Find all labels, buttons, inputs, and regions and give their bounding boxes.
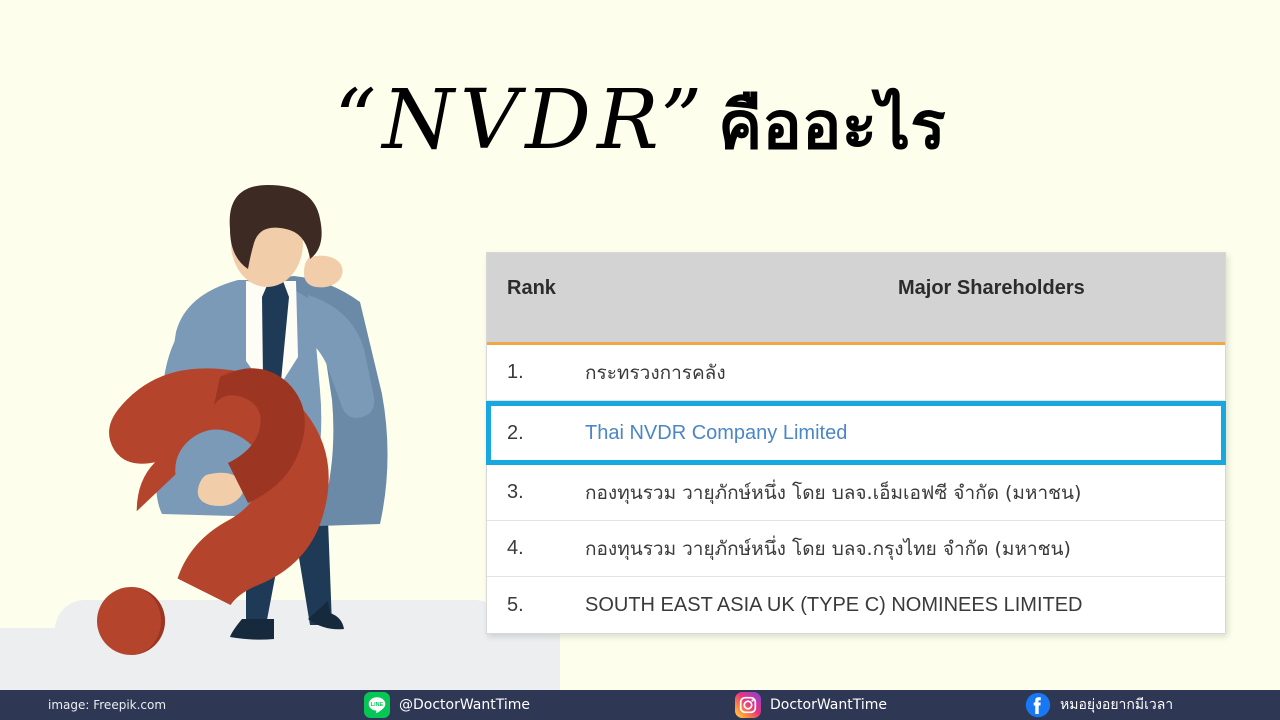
table-row[interactable]: 3. กองทุนรวม วายุภักษ์หนึ่ง โดย บลจ.เอ็ม… xyxy=(487,465,1225,521)
line-icon: LINE xyxy=(364,692,390,718)
table-row[interactable]: 1. กระทรวงการคลัง xyxy=(487,345,1225,401)
social-line[interactable]: LINE @DoctorWantTime xyxy=(364,692,530,718)
table-row-highlighted[interactable]: 2. Thai NVDR Company Limited xyxy=(486,401,1226,465)
row-rank: 1. xyxy=(487,361,585,384)
businessman-question-mark-illustration xyxy=(60,185,470,660)
table-header-row: Rank Major Shareholders xyxy=(487,253,1225,345)
footer-bar: image: Freepik.com LINE @DoctorWantTime xyxy=(0,690,1280,720)
social-facebook-label: หมอยุ่งอยากมีเวลา xyxy=(1060,694,1173,716)
title-quoted-term: “NVDR” xyxy=(334,73,708,168)
row-shareholder-name: กองทุนรวม วายุภักษ์หนึ่ง โดย บลจ.กรุงไทย… xyxy=(585,534,1071,564)
table-row[interactable]: 5. SOUTH EAST ASIA UK (TYPE C) NOMINEES … xyxy=(487,577,1225,633)
column-header-rank: Rank xyxy=(507,277,556,300)
social-facebook[interactable]: หมอยุ่งอยากมีเวลา xyxy=(1025,692,1173,718)
major-shareholders-table: Rank Major Shareholders 1. กระทรวงการคลั… xyxy=(486,252,1226,634)
row-shareholder-name: กระทรวงการคลัง xyxy=(585,358,726,388)
row-rank: 3. xyxy=(487,481,585,504)
facebook-icon xyxy=(1025,692,1051,718)
instagram-icon xyxy=(735,692,761,718)
title-thai-text: คืออะไร xyxy=(718,87,946,164)
row-rank: 4. xyxy=(487,537,585,560)
image-credit: image: Freepik.com xyxy=(48,698,166,712)
page-title: “NVDR”คืออะไร xyxy=(0,78,1280,164)
social-line-label: @DoctorWantTime xyxy=(399,697,530,713)
row-rank: 2. xyxy=(491,422,585,445)
row-shareholder-name: SOUTH EAST ASIA UK (TYPE C) NOMINEES LIM… xyxy=(585,594,1083,617)
column-header-major-shareholders: Major Shareholders xyxy=(898,277,1085,300)
slide-canvas: “NVDR”คืออะไร xyxy=(0,0,1280,720)
table-row[interactable]: 4. กองทุนรวม วายุภักษ์หนึ่ง โดย บลจ.กรุง… xyxy=(487,521,1225,577)
social-instagram[interactable]: DoctorWantTime xyxy=(735,692,887,718)
social-instagram-label: DoctorWantTime xyxy=(770,697,887,713)
row-shareholder-name-link[interactable]: Thai NVDR Company Limited xyxy=(585,422,847,445)
row-shareholder-name: กองทุนรวม วายุภักษ์หนึ่ง โดย บลจ.เอ็มเอฟ… xyxy=(585,478,1081,508)
row-rank: 5. xyxy=(487,594,585,617)
svg-text:LINE: LINE xyxy=(371,702,384,708)
